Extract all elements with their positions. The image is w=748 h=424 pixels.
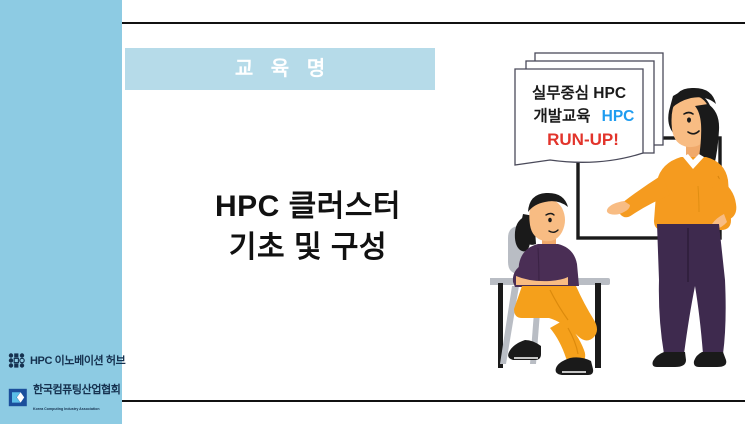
logo-hpc-innovation-hub: HPC 이노베이션 허브 [8,352,120,369]
board-note-line-2-black: 개발교육 [533,106,590,125]
illustration-svg: 실무중심 HPC 개발교육 HPC RUN-UP! [490,28,748,378]
classroom-instructor-illustration: 실무중심 HPC 개발교육 HPC RUN-UP! [490,28,748,378]
course-label-band: 교 육 명 [125,48,435,90]
top-divider-rule [122,22,745,24]
page-title-line-2: 기초 및 구성 [128,227,488,268]
course-label-text: 교 육 명 [229,59,331,79]
logo-kcia: 한국컴퓨팅산업협회 Korea Computing Industry Assoc… [8,381,120,415]
bottom-divider-rule [122,400,745,402]
board-note-line-2-blue: HPC [602,108,635,125]
board-note-line-1: 실무중심 HPC [532,84,626,102]
arrow-cube-icon [8,388,28,407]
logo-kcia-text-wrap: 한국컴퓨팅산업협회 Korea Computing Industry Assoc… [33,381,120,415]
page-title-line-1: HPC 클러스터 [128,186,488,227]
logo-hub-name-ko: HPC 이노베이션 허브 [30,355,125,367]
logo-hub-text-wrap: HPC 이노베이션 허브 [30,352,125,369]
logo-group: HPC 이노베이션 허브 한국컴퓨팅산업협회 Korea Computing I… [8,352,120,414]
logo-kcia-name-ko: 한국컴퓨팅산업협회 [33,384,120,396]
page-title: HPC 클러스터 기초 및 구성 [128,186,488,269]
dot-grid-icon [8,353,25,368]
slide-canvas: 교 육 명 HPC 클러스터 기초 및 구성 [0,0,748,424]
board-note-line-3: RUN-UP! [547,130,619,149]
logo-kcia-name-en: Korea Computing Industry Association [33,407,100,411]
